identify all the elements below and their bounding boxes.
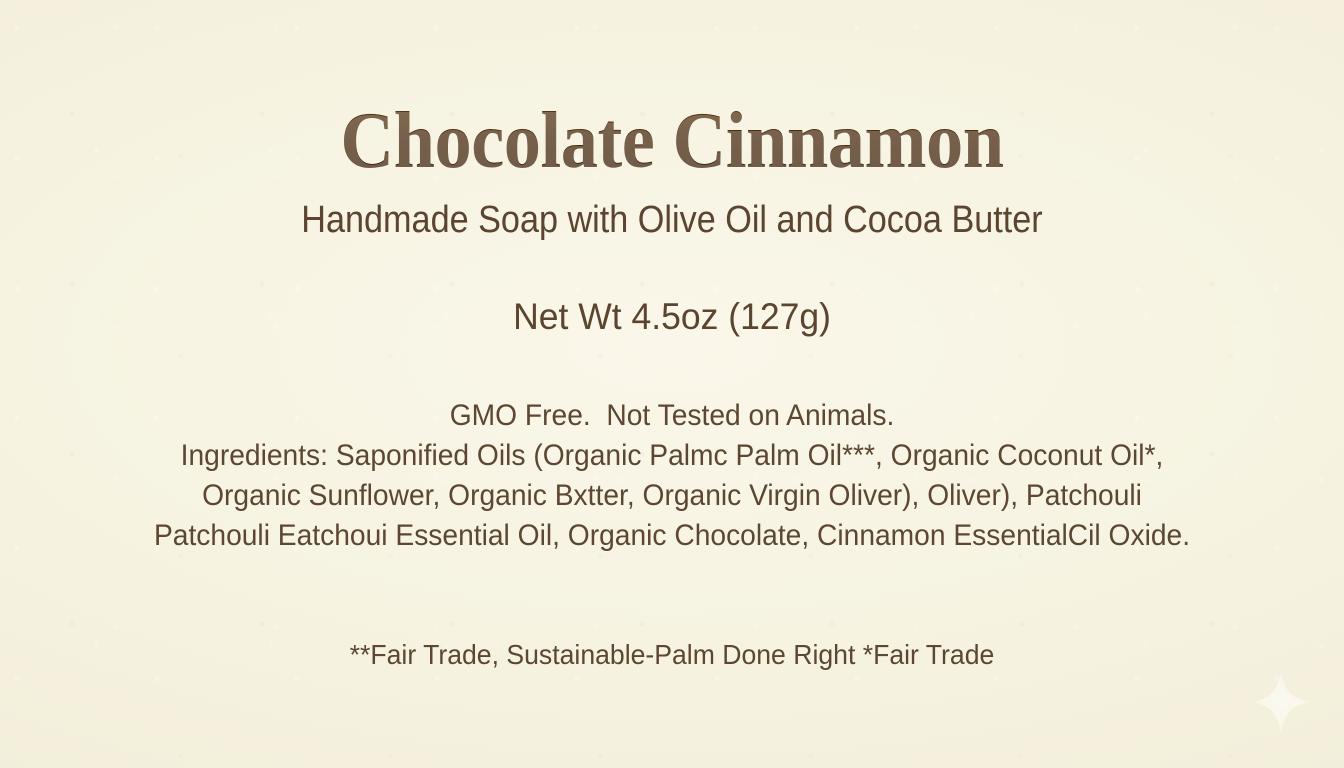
- product-label: Chocolate Cinnamon Handmade Soap with Ol…: [0, 0, 1344, 768]
- label-content: Chocolate Cinnamon Handmade Soap with Ol…: [0, 0, 1344, 768]
- ingredients-line: GMO Free. Not Tested on Animals.: [97, 396, 1248, 436]
- product-subtitle: Handmade Soap with Olive Oil and Cocoa B…: [67, 199, 1277, 243]
- product-title: Chocolate Cinnamon: [47, 101, 1297, 181]
- ingredients-line: Patchouli Eatchoui Essential Oil, Organi…: [97, 516, 1248, 556]
- ingredients-line: Organic Sunflower, Organic Bxtter, Organ…: [97, 476, 1248, 516]
- ingredients-block: GMO Free. Not Tested on Animals. Ingredi…: [97, 396, 1248, 556]
- ingredients-line: Ingredients: Saponified Oils (Organic Pa…: [97, 436, 1248, 476]
- net-weight-text: Net Wt 4.5oz (127g): [27, 296, 1317, 338]
- certification-footnote: **Fair Trade, Sustainable-Palm Done Righ…: [34, 639, 1311, 671]
